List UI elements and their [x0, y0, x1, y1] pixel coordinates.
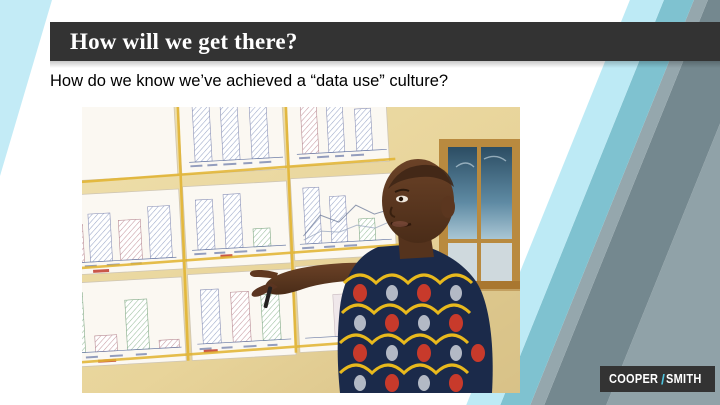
slide-subtitle: How do we know we’ve achieved a “data us… [50, 72, 448, 91]
title-bar-shadow [50, 61, 720, 68]
logo-first-word: COOPER [609, 372, 658, 386]
slide-title-bar: How will we get there? [50, 22, 720, 61]
logo-separator-icon: / [661, 371, 665, 387]
slide-canvas: How will we get there? How do we know we… [0, 0, 720, 405]
page-title: How will we get there? [70, 29, 298, 55]
brand-logo: COOPER / SMITH [600, 366, 715, 392]
slide-photo [82, 107, 520, 393]
logo-second-word: SMITH [666, 372, 702, 386]
photo-illustration [82, 107, 520, 393]
